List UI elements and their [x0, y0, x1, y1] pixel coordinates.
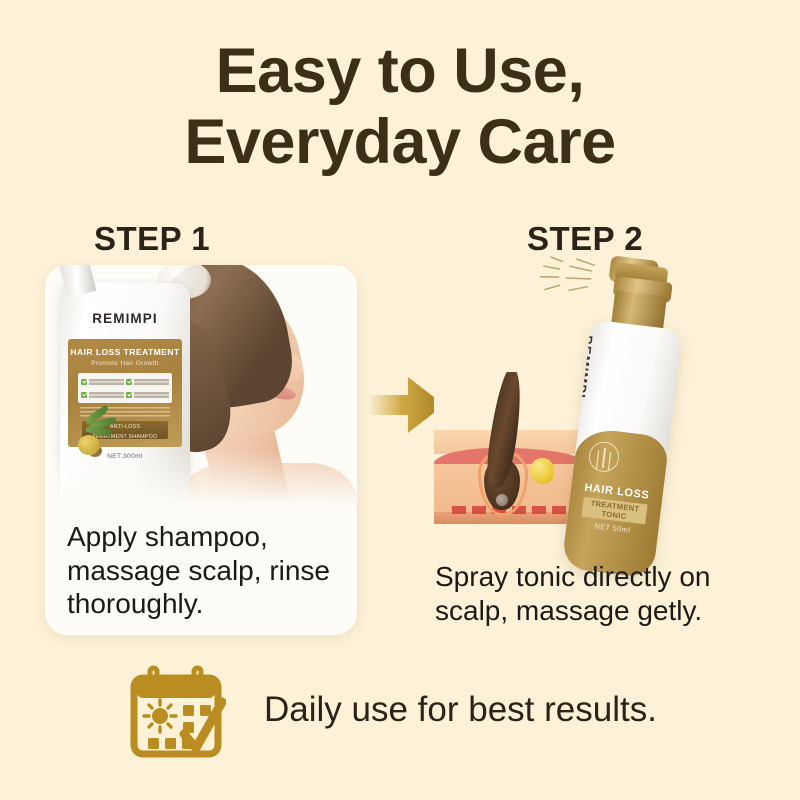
step-1-card: REMIMPI HAIR LOSS TREATMENT Promote Hair… [45, 265, 357, 635]
title-line-1: Easy to Use, [216, 36, 585, 106]
right-arrow-icon [368, 375, 444, 435]
calendar-check-sun-icon [128, 664, 226, 764]
pouch-benefit-list [78, 373, 172, 403]
pouch-spout [58, 265, 97, 298]
spray-tonic-bottle: REMIMPI HAIR LOSS TREATMENT TONIC NET 50… [521, 247, 759, 589]
green-check-icon [126, 392, 132, 398]
dermal-papilla [496, 494, 508, 506]
spray-mist-icon [531, 252, 607, 316]
bottle-brand-name: REMIMPI [570, 334, 596, 427]
green-check-icon [81, 392, 87, 398]
pouch-band-subtitle: Promote Hair Growth [68, 360, 182, 367]
green-check-icon [126, 379, 132, 385]
step-1-photo: REMIMPI HAIR LOSS TREATMENT Promote Hair… [45, 265, 357, 520]
benefit-item [126, 376, 169, 387]
footer-text: Daily use for best results. [264, 690, 657, 730]
benefit-item [81, 376, 124, 387]
title-line-2: Everyday Care [0, 107, 800, 178]
page-title: Easy to Use, Everyday Care [0, 36, 800, 178]
benefit-item [126, 389, 169, 400]
benefit-item [81, 389, 124, 400]
step-1-caption: Apply shampoo, massage scalp, rinse thor… [67, 520, 347, 621]
pouch-label-band: HAIR LOSS TREATMENT Promote Hair Growth … [68, 339, 182, 447]
photo-fade-overlay [45, 450, 357, 520]
step-2-caption: Spray tonic directly on scalp, massage g… [435, 560, 780, 628]
pouch-band-title: HAIR LOSS TREATMENT [68, 347, 182, 357]
pouch-brand-name: REMIMPI [60, 311, 190, 326]
step-1-label: STEP 1 [94, 220, 210, 258]
poster-canvas: Easy to Use, Everyday Care STEP 1 STEP 2 [0, 0, 800, 800]
green-check-icon [81, 379, 87, 385]
bottle-body: REMIMPI HAIR LOSS TREATMENT TONIC NET 50… [561, 319, 683, 578]
